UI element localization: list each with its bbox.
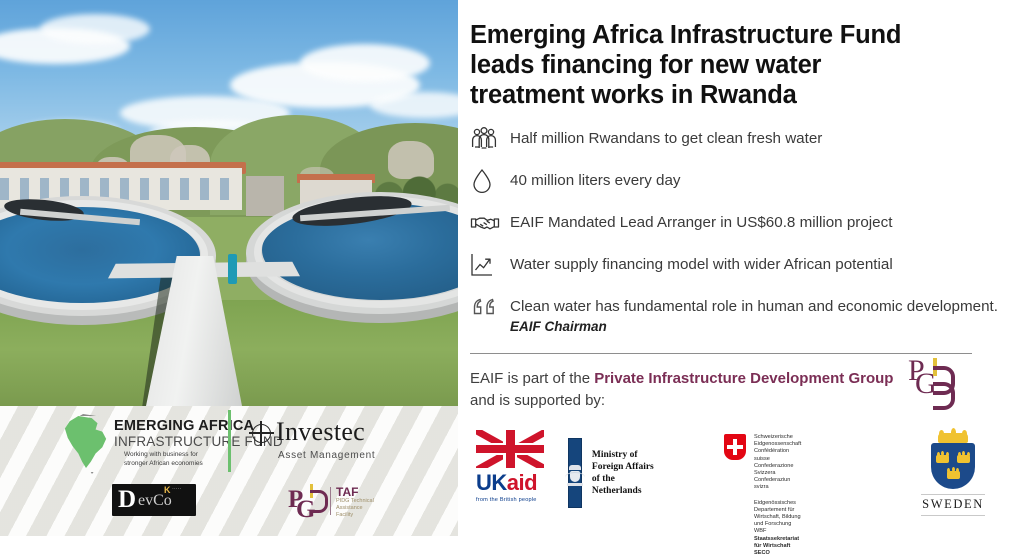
quote-attribution: EAIF Chairman [510,319,607,334]
ukaid-wordmark: UKaid [476,470,544,496]
ukaid-aid: aid [507,470,537,495]
affiliation-text: EAIF is part of the Private Infrastructu… [470,368,1000,412]
quote-text: Clean water has fundamental role in huma… [510,298,998,315]
union-jack-icon [476,430,544,468]
section-divider [470,353,972,354]
list-item-text: Half million Rwandans to get clean fresh… [510,126,822,149]
sweden-shield-icon [931,443,975,489]
blue-pipe [228,254,237,284]
tower-structure [246,176,284,216]
affiliation-prefix: EAIF is part of the [470,370,594,387]
swiss-cross-icon [724,434,746,460]
highlights-list: Half million Rwandans to get clean fresh… [470,126,1000,337]
people-group-icon [470,126,510,152]
list-item-text: 40 million liters every day [510,168,681,191]
netherlands-logo: Ministry of Foreign Affairs of the Nethe… [568,438,662,508]
list-item-text: Water supply financing model with wider … [510,252,893,275]
royal-crown-icon [938,430,968,443]
list-item: Water supply financing model with wider … [470,252,1000,278]
list-item-text: Clean water has fundamental role in huma… [510,294,1000,337]
list-item-text: EAIF Mandated Lead Arranger in US$60.8 m… [510,210,892,233]
pidg-group-name: Private Infrastructure Development Group [594,370,893,387]
sweden-wordmark: SWEDEN [916,497,990,512]
netherlands-emblem-icon [568,438,582,508]
sweden-rule-bottom [921,515,985,516]
list-item: 40 million liters every day [470,168,1000,194]
cloud [300,44,430,82]
ukaid-uk: UK [476,470,507,495]
ukaid-tagline: from the British people [476,497,544,503]
sweden-rule-top [921,494,985,495]
seco-department-line: Eidgenössisches Departement für Wirtscha… [754,500,801,536]
quote-icon [470,294,510,320]
ukaid-logo: UKaid from the British people [476,430,544,503]
building-windows [0,178,240,200]
pidg-letter-d-lower [933,382,955,410]
growth-chart-icon [470,252,510,278]
swiss-confederation-names: Schweizerische Eidgenossenschaft Confédé… [754,434,801,492]
infographic-page: EMERGING AFRICA INFRASTRUCTURE FUND Work… [0,0,1024,536]
water-droplet-icon [470,168,510,194]
sweden-logo: SWEDEN [916,430,990,516]
pidg-logo: P G [908,358,956,406]
page-title: Emerging Africa Infrastructure Fund lead… [470,20,940,110]
list-item: EAIF Mandated Lead Arranger in US$60.8 m… [470,210,1000,236]
list-item: Clean water has fundamental role in huma… [470,294,1000,337]
netherlands-ministry-text: Ministry of Foreign Affairs of the Nethe… [592,449,662,497]
list-item: Half million Rwandans to get clean fresh… [470,126,1000,152]
cloud [40,14,150,44]
seco-secretariat-line: Staatssekretariat für Wirtschaft SECO [754,536,799,556]
switzerland-seco-logo: Schweizerische Eidgenossenschaft Confédé… [724,434,801,557]
handshake-icon [470,210,510,236]
seco-text-block: Schweizerische Eidgenossenschaft Confédé… [754,434,801,557]
donor-logos: UKaid from the British people Ministry o… [12,430,542,525]
affiliation-suffix: and is supported by: [470,392,605,409]
